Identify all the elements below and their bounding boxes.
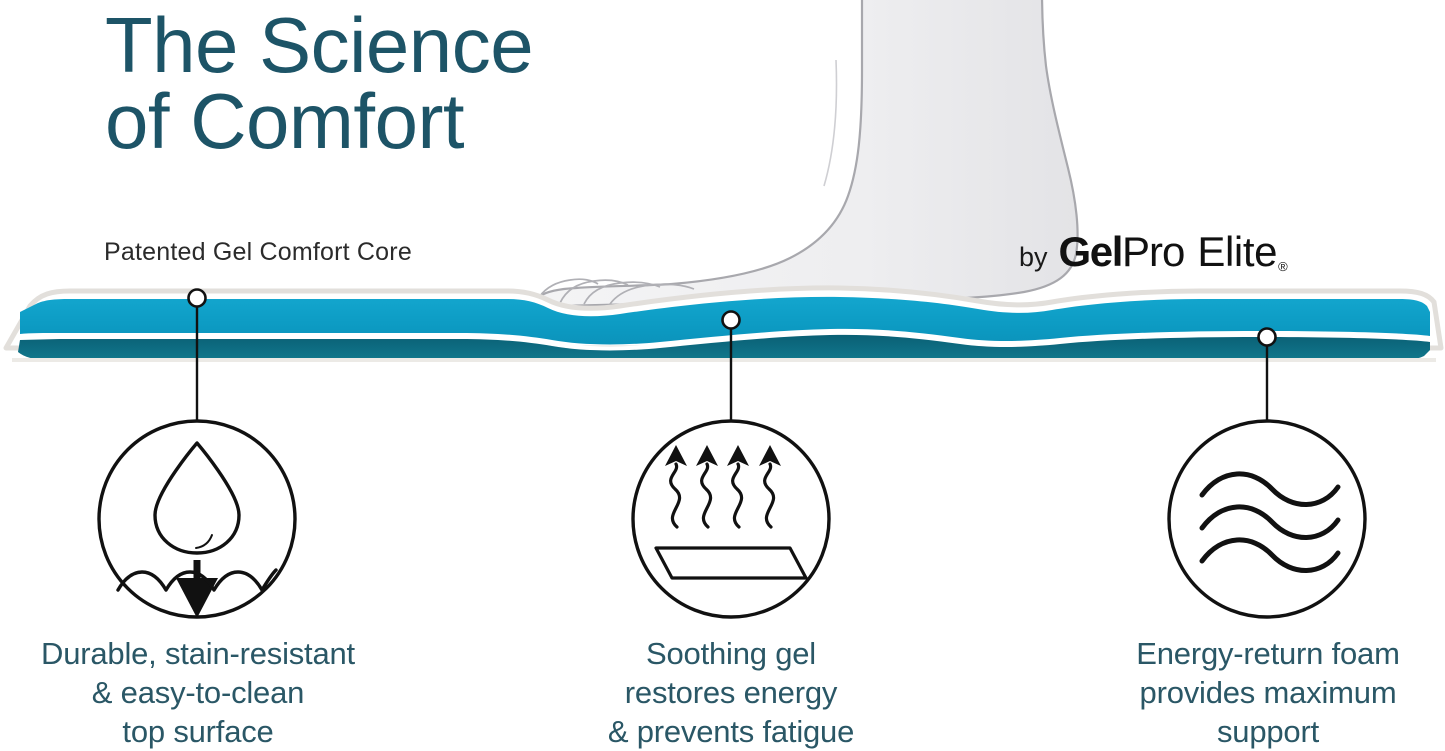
feature-icon-3-group — [1169, 421, 1365, 617]
feature-caption-1: Durable, stain-resistant & easy-to-clean… — [0, 634, 396, 751]
registered-trademark-icon: ® — [1278, 259, 1288, 274]
icon-circle-2 — [633, 421, 829, 617]
brand-gel-text: Gel — [1059, 228, 1123, 276]
leader-dot-2 — [723, 312, 740, 329]
brand-by-text: by — [1019, 242, 1048, 273]
page-title: The Science of Comfort — [105, 8, 745, 159]
brand-elite-text: Elite — [1197, 228, 1277, 276]
leader-dot-1 — [189, 290, 206, 307]
mat-plane-shape — [656, 548, 806, 578]
feature-caption-3: Energy-return foam provides maximum supp… — [1085, 634, 1445, 751]
shin-shade — [824, 60, 837, 186]
infographic-canvas: The Science of Comfort Patented Gel Comf… — [0, 0, 1445, 749]
brand-pro-text: Pro — [1122, 228, 1184, 276]
feature-icon-2-group — [633, 421, 829, 617]
brand-logo: by Gel Pro Elite ® — [1019, 228, 1288, 276]
feature-caption-2: Soothing gel restores energy & prevents … — [566, 634, 896, 751]
leader-dot-3 — [1259, 329, 1276, 346]
feature-icon-1-group — [99, 421, 295, 618]
patented-gel-comfort-core-label: Patented Gel Comfort Core — [104, 238, 412, 267]
